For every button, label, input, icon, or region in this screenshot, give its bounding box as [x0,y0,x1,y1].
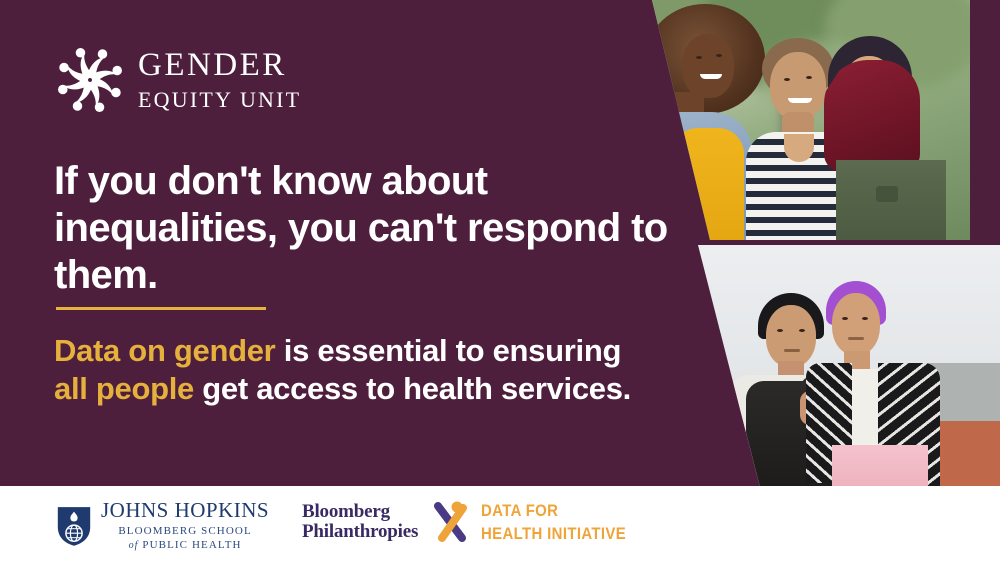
bloomberg-line-1: Bloomberg [302,502,418,522]
subheadline-highlight-2: all people [54,371,194,406]
jhu-line-1: JOHNS HOPKINS [101,500,269,521]
subheadline-text-2: get access to health services. [194,371,631,406]
subheadline-text-1: is essential to ensuring [275,333,621,368]
johns-hopkins-logo: JOHNS HOPKINS BLOOMBERG SCHOOL of PUBLIC… [56,500,269,551]
jhu-line-3-text: PUBLIC HEALTH [142,539,241,551]
poster-canvas: GENDER EQUITY UNIT If you don't know abo… [0,0,1000,563]
headline: If you don't know about inequalities, yo… [54,158,674,299]
logo-line-1: GENDER [138,49,301,82]
person-x-mark-icon [432,500,472,544]
bloomberg-philanthropies-logo: Bloomberg Philanthropies [302,502,418,542]
subheadline: Data on gender is essential to ensuring … [54,332,654,408]
data-for-health-initiative-logo: DATA FOR HEALTH INITIATIVE [432,500,646,544]
footer-logo-bar: JOHNS HOPKINS BLOOMBERG SCHOOL of PUBLIC… [0,486,1000,563]
photo-two-young-people [650,245,1000,487]
subheadline-highlight-1: Data on gender [54,333,275,368]
gold-rule [56,307,266,310]
jhu-line-3-prefix: of [129,540,139,551]
jhu-line-3: of PUBLIC HEALTH [101,540,269,551]
logo-line-2: EQUITY UNIT [138,89,301,111]
pinwheel-figures-icon [56,46,124,114]
d4h-line-1: DATA FOR [481,502,626,519]
bloomberg-line-2: Philanthropies [302,522,418,542]
gender-equity-unit-logo: GENDER EQUITY UNIT [56,46,301,114]
d4h-line-2: HEALTH INITIATIVE [481,525,626,542]
jhu-line-2: BLOOMBERG SCHOOL [101,526,269,537]
shield-torch-globe-icon [56,505,92,547]
